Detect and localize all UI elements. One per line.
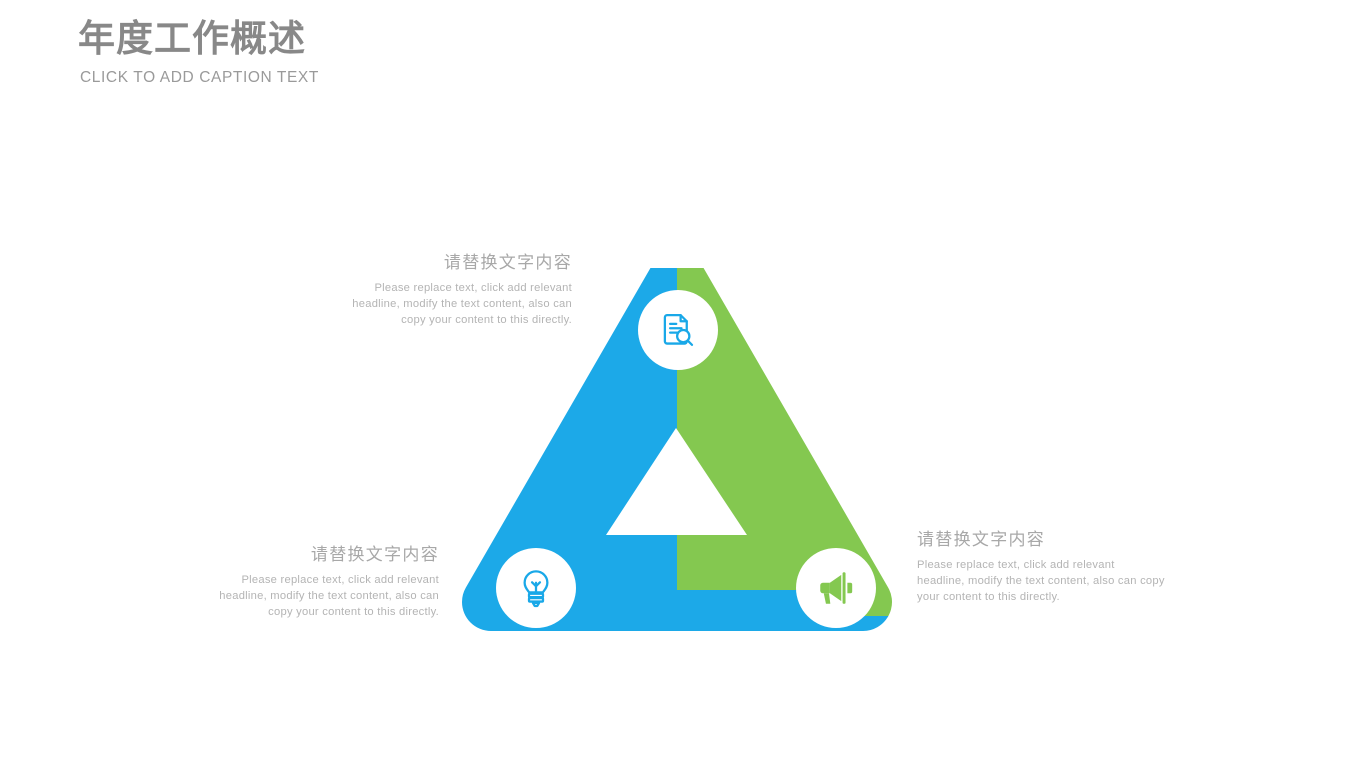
node-body-top: Please replace text, click add relevant …: [330, 280, 572, 328]
node-text-right: 请替换文字内容 Please replace text, click add r…: [917, 530, 1165, 605]
node-title-top: 请替换文字内容: [330, 253, 572, 273]
node-text-top: 请替换文字内容 Please replace text, click add r…: [330, 253, 572, 328]
megaphone-icon: [815, 567, 857, 609]
node-badge-right[interactable]: [796, 548, 876, 628]
node-badge-top[interactable]: [638, 290, 718, 370]
node-body-left: Please replace text, click add relevant …: [196, 572, 439, 620]
lightbulb-icon: [515, 567, 557, 609]
node-badge-left[interactable]: [496, 548, 576, 628]
node-body-right: Please replace text, click add relevant …: [917, 557, 1165, 605]
node-title-right: 请替换文字内容: [917, 530, 1165, 550]
node-text-left: 请替换文字内容 Please replace text, click add r…: [196, 545, 439, 620]
node-title-left: 请替换文字内容: [196, 545, 439, 565]
document-search-icon: [657, 309, 699, 351]
triangle-diagram: 请替换文字内容 Please replace text, click add r…: [0, 0, 1350, 759]
